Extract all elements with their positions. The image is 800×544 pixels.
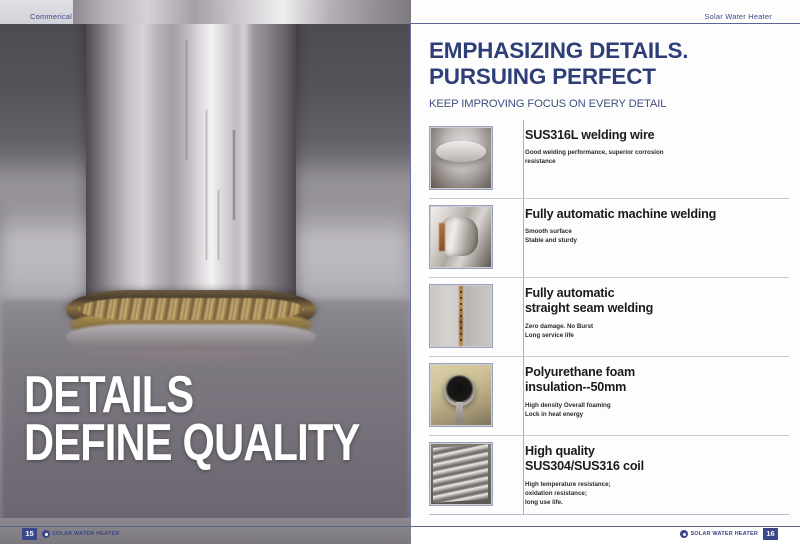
cylinder-scratch [186,40,187,160]
foam-insulation-tank-thumbnail [429,363,493,427]
feature-subtext: Good welding performance, superior corro… [525,149,789,167]
feature-subtext-line: Long service life [525,332,789,341]
feature-subtext-line: Good welding performance, superior corro… [525,149,789,158]
feature-item: Polyurethane foam insulation--50mm High … [429,357,789,436]
stainless-steel-coil-thumbnail [429,442,493,506]
feature-title: High quality SUS304/SUS316 coil [525,444,789,475]
thumbnail-image [431,444,491,504]
feature-title-line1: High quality [525,444,789,459]
feature-title: Fully automatic machine welding [525,207,789,222]
feature-divider-vertical [523,120,524,198]
brand-name: SOLAR WATER HEATER [52,531,120,537]
cylinder-scratch [206,110,207,260]
weld-bead-texture [78,298,304,320]
feature-title: SUS316L welding wire [525,128,789,143]
thumbnail-image [431,128,491,188]
page-number-left: 15 [22,528,37,540]
weld-seam [66,286,316,354]
page-footer: 15 SOLAR WATER HEATER SOLAR WATER HEATER… [0,526,800,544]
feature-item: Fully automatic machine welding Smooth s… [429,199,789,278]
feature-divider-vertical [523,199,524,277]
thumbnail-image [431,207,491,267]
feature-divider-vertical [523,278,524,356]
feature-subtext-line: Lock in heat energy [525,411,789,420]
feature-subtext: Zero damage. No Burst Long service life [525,323,789,341]
feature-title-line1: Fully automatic [525,286,789,301]
feature-subtext: High density Overall foaming Lock in hea… [525,402,789,420]
photo-headline-line2: DEFINE QUALITY [24,420,320,468]
page-title-block: EMPHASIZING DETAILS. PURSUING PERFECT KE… [429,38,789,110]
feature-title-line2: insulation--50mm [525,380,789,395]
cylinder-highlight [236,0,252,300]
feature-divider-vertical [523,436,524,514]
product-photo-panel: Commerical DETAILS DEFINE QUALITY [0,0,411,526]
brand-logo-right: SOLAR WATER HEATER [680,530,758,538]
brand-name: SOLAR WATER HEATER [690,531,758,537]
feature-text: Fully automatic straight seam welding Ze… [525,278,789,341]
steel-cylinder [86,0,296,315]
page-number-right: 16 [763,528,778,540]
photo-headline: DETAILS DEFINE QUALITY [24,372,320,468]
thumbnail-image [431,286,491,346]
straight-seam-weld-thumbnail [429,284,493,348]
feature-subtext-line: Zero damage. No Burst [525,323,789,332]
footer-rule [0,526,800,527]
feature-text: Fully automatic machine welding Smooth s… [525,199,789,246]
cylinder-base-flange [66,324,316,350]
feature-item: SUS316L welding wire Good welding perfor… [429,120,789,199]
feature-text: Polyurethane foam insulation--50mm High … [525,357,789,420]
cylinder-scratch [233,130,235,220]
feature-subtext-line: oxidation resistance; [525,490,789,499]
page-title-line2: PURSUING PERFECT [429,64,789,90]
thumbnail-image [431,365,491,425]
page-subtitle: KEEP IMPROVING FOCUS ON EVERY DETAIL [429,98,789,110]
machine-welded-tube-thumbnail [429,205,493,269]
page-title-line1: EMPHASIZING DETAILS. [429,38,789,64]
feature-subtext: Smooth surface Stable and sturdy [525,228,789,246]
feature-subtext-line: High density Overall foaming [525,402,789,411]
header-left-label: Commerical [30,12,72,21]
header-photo-strip [73,0,411,24]
feature-subtext-line: High temperature resistance; [525,481,789,490]
feature-title-line1: Polyurethane foam [525,365,789,380]
cylinder-scratch [218,190,219,260]
feature-title: Polyurethane foam insulation--50mm [525,365,789,396]
brand-mark-icon [42,530,50,538]
feature-subtext-line: long use life. [525,499,789,508]
brand-mark-icon [680,530,688,538]
feature-item: Fully automatic straight seam welding Ze… [429,278,789,357]
photo-headline-line1: DETAILS [24,372,320,420]
feature-title-line2: SUS304/SUS316 coil [525,459,789,474]
header-rule [411,23,800,24]
feature-list: SUS316L welding wire Good welding perfor… [429,120,789,515]
feature-subtext-line: Smooth surface [525,228,789,237]
feature-text: High quality SUS304/SUS316 coil High tem… [525,436,789,508]
feature-subtext-line: resistance [525,158,789,167]
feature-title: Fully automatic straight seam welding [525,286,789,317]
content-panel: Solar Water Heater EMPHASIZING DETAILS. … [411,0,800,526]
welding-wire-spool-thumbnail [429,126,493,190]
brand-logo-left: SOLAR WATER HEATER [42,530,120,538]
feature-subtext: High temperature resistance; oxidation r… [525,481,789,508]
feature-item: High quality SUS304/SUS316 coil High tem… [429,436,789,515]
feature-subtext-line: Stable and sturdy [525,237,789,246]
brochure-page: Commerical DETAILS DEFINE QUALITY Solar … [0,0,800,544]
feature-title-line2: straight seam welding [525,301,789,316]
panel-vertical-divider [410,23,411,520]
header-right-label: Solar Water Heater [704,12,772,21]
feature-divider-vertical [523,357,524,435]
feature-text: SUS316L welding wire Good welding perfor… [525,120,789,167]
